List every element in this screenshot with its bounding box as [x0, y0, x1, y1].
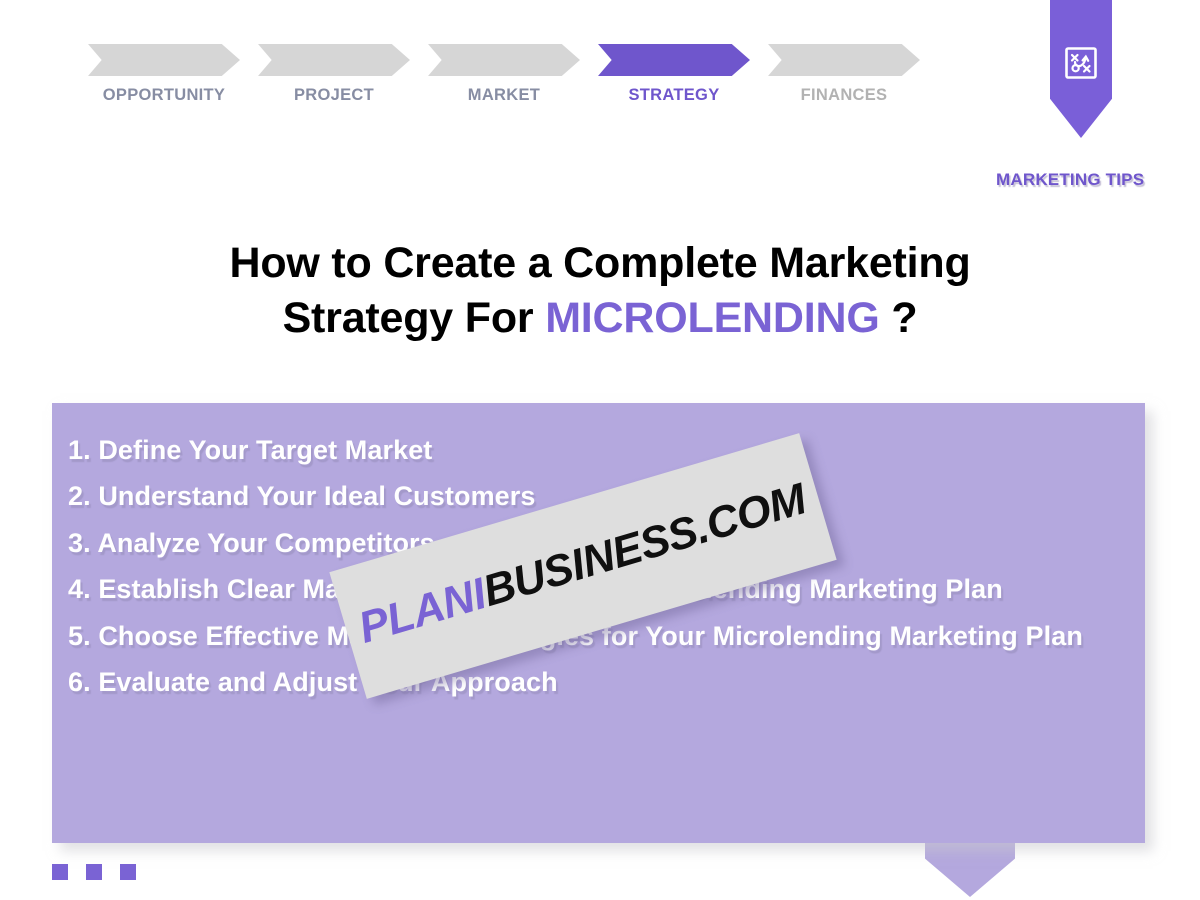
stepper-label-finances: FINANCES: [768, 86, 920, 105]
list-item: 6. Evaluate and Adjust Your Approach: [68, 659, 1130, 705]
chevron-shape-finances: [768, 44, 920, 76]
chevron-shape-project: [258, 44, 410, 76]
stepper-step-finances[interactable]: FINANCES: [768, 44, 934, 114]
ellipsis-dot: [52, 864, 68, 880]
chevron-shape-opportunity: [88, 44, 240, 76]
watermark-brand-part-1: PLANI: [353, 569, 491, 653]
stepper-label-market: MARKET: [428, 86, 580, 105]
chevron-shape-strategy: [598, 44, 750, 76]
title-line-1: How to Create a Complete Marketing: [229, 239, 970, 287]
stepper-label-project: PROJECT: [258, 86, 410, 105]
process-stepper: OPPORTUNITY PROJECT MARKET STRATEGY FINA…: [88, 44, 918, 114]
slide-canvas: OPPORTUNITY PROJECT MARKET STRATEGY FINA…: [0, 0, 1200, 900]
stepper-step-opportunity[interactable]: OPPORTUNITY: [88, 44, 254, 114]
marketing-tips-label: MARKETING TIPS: [996, 170, 1144, 190]
stepper-step-project[interactable]: PROJECT: [258, 44, 424, 114]
title-line-2-suffix: ?: [880, 294, 918, 342]
stepper-label-strategy: STRATEGY: [598, 86, 750, 105]
strategy-playbook-icon: [1062, 44, 1100, 82]
title-line-2-prefix: Strategy For: [283, 294, 546, 342]
list-item: 1. Define Your Target Market: [68, 427, 1130, 473]
ellipsis-dot: [86, 864, 102, 880]
ellipsis-indicator: [52, 864, 136, 880]
stepper-step-strategy[interactable]: STRATEGY: [598, 44, 764, 114]
title-keyword: MICROLENDING: [545, 294, 879, 342]
page-title: How to Create a Complete Marketing Strat…: [100, 236, 1100, 346]
chevron-shape-market: [428, 44, 580, 76]
ellipsis-dot: [120, 864, 136, 880]
stepper-label-opportunity: OPPORTUNITY: [88, 86, 240, 105]
stepper-step-market[interactable]: MARKET: [428, 44, 594, 114]
